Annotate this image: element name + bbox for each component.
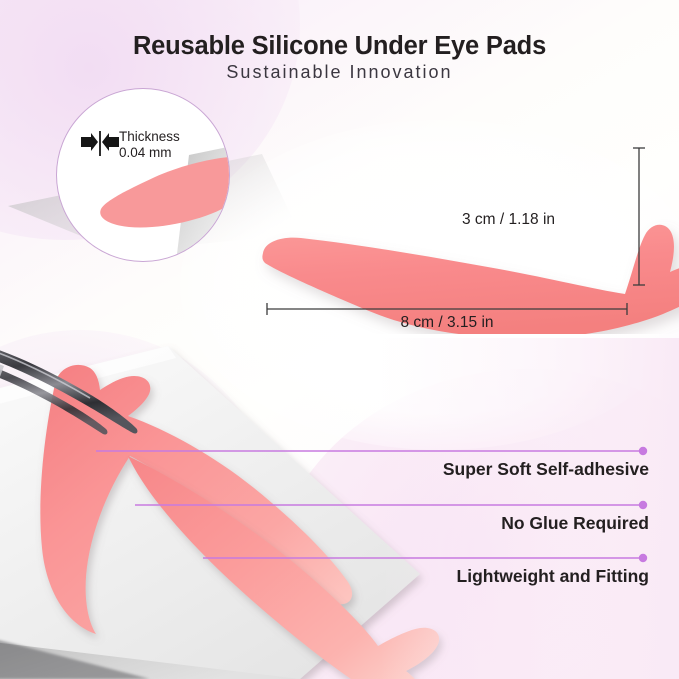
feature-label-2: No Glue Required [501,513,649,534]
product-infographic: Reusable Silicone Under Eye Pads Sustain… [0,0,679,679]
thickness-label-line2: 0.04 mm [119,145,180,161]
page-title: Reusable Silicone Under Eye Pads [0,32,679,61]
product-photo [0,338,679,679]
thickness-label: Thickness 0.04 mm [119,129,180,161]
page-subtitle: Sustainable Innovation [0,62,679,83]
width-dimension-label: 8 cm / 3.15 in [266,314,628,332]
magnifier-contents-svg [57,89,229,261]
thickness-label-line1: Thickness [119,129,180,145]
feature-label-3: Lightweight and Fitting [457,566,649,587]
thickness-magnifier-circle: Thickness 0.04 mm [56,88,230,262]
product-photo-svg [0,338,679,679]
feature-label-1: Super Soft Self-adhesive [443,459,649,480]
height-dimension-label: 3 cm / 1.18 in [462,211,555,229]
photo-fade-overlay [380,338,679,679]
thickness-arrows-icon [79,131,119,157]
